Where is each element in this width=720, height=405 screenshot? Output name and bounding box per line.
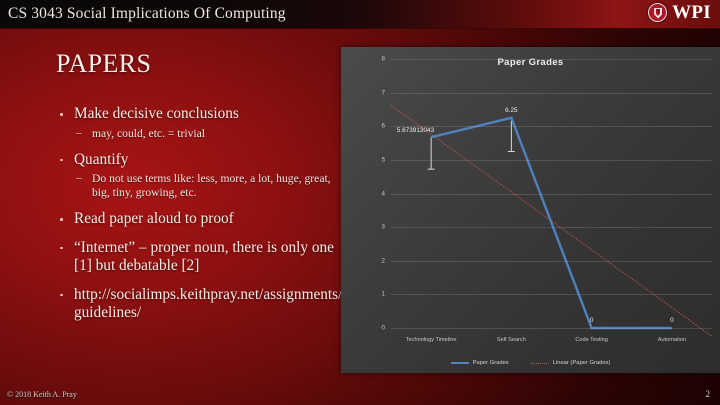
x-axis-tick-label: Automation bbox=[658, 337, 686, 343]
chart-gridline bbox=[391, 227, 712, 228]
wpi-logo-text: WPI bbox=[672, 3, 711, 22]
x-axis-tick-label: Code Testing bbox=[575, 337, 608, 343]
chart-plot-area: 012345678Technology TimelineSelf SearchC… bbox=[391, 59, 712, 328]
legend-label: Linear (Paper Grades) bbox=[553, 360, 611, 366]
legend-item: Linear (Paper Grades) bbox=[531, 360, 611, 366]
y-axis-tick-label: 2 bbox=[382, 257, 385, 264]
list-item: Read paper aloud to proof bbox=[56, 210, 346, 229]
slide: CS 3043 Social Implications Of Computing… bbox=[0, 0, 720, 405]
x-axis-tick-label: Technology Timeline bbox=[406, 337, 457, 343]
spacer bbox=[56, 279, 346, 286]
chart-gridline bbox=[391, 294, 712, 295]
spacer bbox=[56, 202, 346, 210]
list-item: Make decisive conclusions bbox=[56, 105, 346, 124]
y-axis-tick-label: 0 bbox=[382, 325, 385, 332]
chart-gridline bbox=[391, 160, 712, 161]
chart-data-label: 6.25 bbox=[505, 107, 517, 114]
slide-header-bar: CS 3043 Social Implications Of Computing… bbox=[0, 0, 720, 29]
copyright-text: © 2018 Keith A. Pray bbox=[7, 390, 77, 399]
y-axis-tick-label: 5 bbox=[382, 156, 385, 163]
page-number: 2 bbox=[706, 389, 711, 399]
wpi-seal-icon bbox=[648, 3, 667, 22]
y-axis-tick-label: 4 bbox=[382, 190, 385, 197]
chart-data-label: 5.673913043 bbox=[397, 127, 434, 134]
y-axis-tick-label: 7 bbox=[382, 89, 385, 96]
legend-item: Paper Grades bbox=[451, 360, 509, 366]
spacer bbox=[56, 143, 346, 151]
legend-label: Paper Grades bbox=[473, 360, 509, 366]
bullet-list: Make decisive conclusions may, could, et… bbox=[56, 105, 346, 326]
list-item: Do not use terms like: less, more, a lot… bbox=[56, 172, 346, 200]
paper-grades-chart: Paper Grades 012345678Technology Timelin… bbox=[341, 47, 720, 373]
chart-gridline bbox=[391, 93, 712, 94]
list-item: Quantify bbox=[56, 151, 346, 170]
list-item: may, could, etc. = trivial bbox=[56, 127, 346, 141]
y-axis-tick-label: 8 bbox=[382, 56, 385, 63]
chart-gridline bbox=[391, 328, 712, 329]
chart-legend: Paper GradesLinear (Paper Grades) bbox=[341, 360, 720, 366]
chart-data-label: 0 bbox=[590, 317, 594, 324]
y-axis-tick-label: 6 bbox=[382, 123, 385, 130]
chart-gridline bbox=[391, 59, 712, 60]
list-item[interactable]: http://socialimps.keithpray.net/assignme… bbox=[56, 286, 346, 323]
legend-swatch-icon bbox=[531, 363, 549, 364]
legend-swatch-icon bbox=[451, 362, 469, 364]
y-axis-tick-label: 3 bbox=[382, 224, 385, 231]
chart-gridline bbox=[391, 194, 712, 195]
spacer bbox=[56, 232, 346, 239]
x-axis-tick-label: Self Search bbox=[497, 337, 526, 343]
wpi-logo: WPI bbox=[648, 3, 711, 22]
course-title: CS 3043 Social Implications Of Computing bbox=[8, 5, 286, 23]
page-title: PAPERS bbox=[56, 49, 151, 79]
list-item: “Internet” – proper noun, there is only … bbox=[56, 239, 346, 276]
chart-gridline bbox=[391, 126, 712, 127]
chart-data-label: 0 bbox=[670, 317, 674, 324]
chart-gridline bbox=[391, 261, 712, 262]
y-axis-tick-label: 1 bbox=[382, 291, 385, 298]
